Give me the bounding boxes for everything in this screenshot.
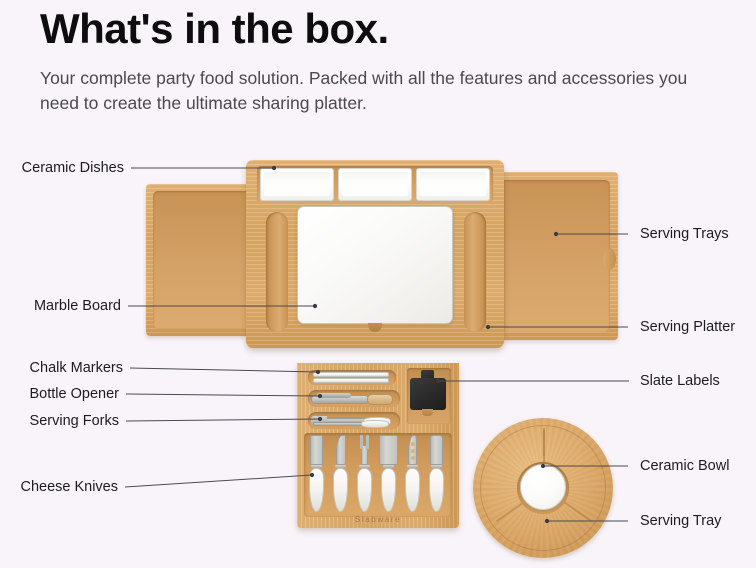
callout-ceramic-dishes: Ceramic Dishes — [0, 161, 124, 176]
round-serving-tray — [473, 418, 613, 558]
serving-fork-shaft — [313, 422, 363, 426]
page-title: What's in the box. — [40, 8, 720, 50]
callout-label: Ceramic Dishes — [22, 160, 124, 176]
board-knob — [368, 323, 382, 332]
tray-left-recess — [153, 191, 259, 329]
cheese-knife-prong — [366, 435, 369, 449]
callout-ceramic-bowl: Ceramic Bowl — [640, 459, 729, 474]
board-groove-right — [464, 212, 486, 332]
chalk-marker — [313, 372, 389, 377]
callout-serving-tray: Serving Tray — [640, 514, 721, 529]
cheese-knife-slot — [411, 449, 415, 453]
ceramic-dish-well — [264, 172, 330, 196]
ceramic-dish-well — [420, 172, 486, 196]
cheese-knife-prong — [360, 435, 363, 449]
utensil-drawer: Slabware — [297, 363, 459, 528]
page-subtitle: Your complete party food solution. Packe… — [40, 66, 700, 116]
callout-label: Serving Tray — [640, 513, 721, 529]
serving-fork-handle — [361, 420, 389, 428]
callout-chalk-markers: Chalk Markers — [0, 361, 123, 376]
callout-cheese-knives: Cheese Knives — [0, 480, 118, 495]
callout-label: Slate Labels — [640, 373, 720, 389]
board-groove-left — [266, 212, 288, 332]
callout-serving-trays: Serving Trays — [640, 227, 729, 242]
callout-label: Marble Board — [34, 298, 121, 314]
main-board — [246, 160, 504, 348]
callout-label: Ceramic Bowl — [640, 458, 729, 474]
tray-right-recess — [504, 180, 610, 332]
ceramic-dish — [416, 168, 490, 201]
callout-label: Chalk Markers — [30, 360, 123, 376]
callout-marble-board: Marble Board — [0, 299, 121, 314]
callout-serving-forks: Serving Forks — [0, 414, 119, 429]
infographic-canvas: What's in the box. Your complete party f… — [0, 0, 756, 568]
cheese-knife-blade — [379, 435, 398, 465]
cheese-knife-blade — [310, 435, 323, 465]
ceramic-dish-well — [342, 172, 408, 196]
callout-bottle-opener: Bottle Opener — [0, 387, 119, 402]
cheese-knife-slot — [411, 442, 415, 446]
slate-label-foot — [422, 409, 433, 416]
callout-label: Serving Trays — [640, 226, 729, 242]
callout-label: Serving Forks — [30, 413, 119, 429]
brand-imprint: Slabware — [297, 515, 459, 524]
callout-serving-platter: Serving Platter — [640, 320, 735, 335]
bottle-opener-lever — [317, 393, 351, 398]
callout-label: Cheese Knives — [20, 479, 118, 495]
cheese-knife-blade — [336, 435, 346, 465]
callout-slate-labels: Slate Labels — [640, 374, 720, 389]
callout-label: Serving Platter — [640, 319, 735, 335]
marble-board — [297, 206, 453, 324]
callout-label: Bottle Opener — [30, 386, 119, 402]
ceramic-bowl — [520, 464, 566, 510]
ceramic-dish — [338, 168, 412, 201]
header-block: What's in the box. Your complete party f… — [40, 8, 720, 116]
bottle-opener-handle — [367, 394, 393, 405]
ceramic-dish — [260, 168, 334, 201]
cheese-knife-slot — [411, 456, 415, 460]
cheese-knife-blade — [430, 435, 443, 465]
slate-label — [410, 378, 446, 410]
chalk-marker — [313, 378, 389, 383]
tray-right-notch — [603, 248, 616, 270]
serving-tray-right — [498, 172, 618, 340]
